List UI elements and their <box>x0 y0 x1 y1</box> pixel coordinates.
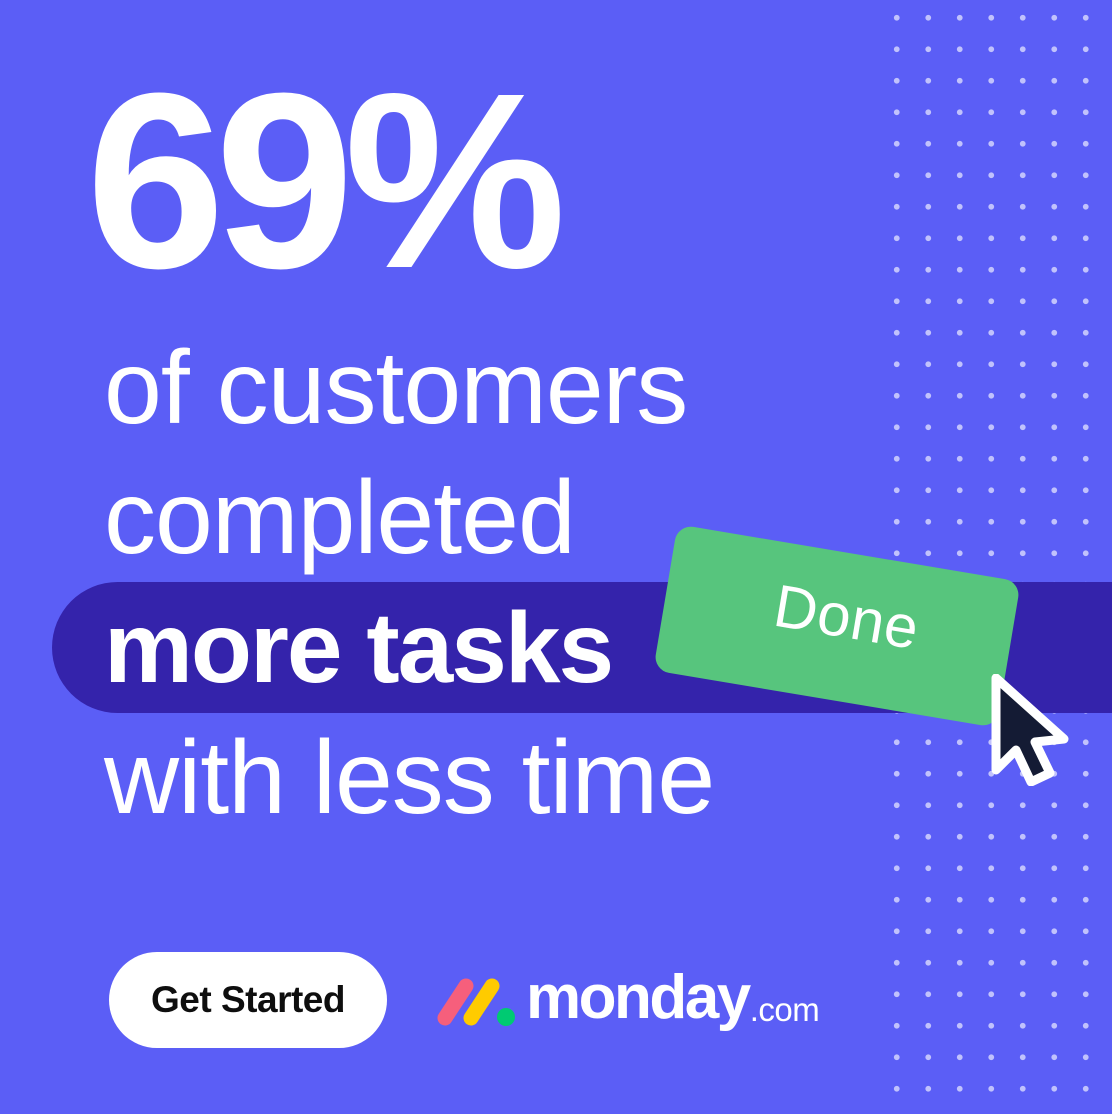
headline-line-2: completed <box>104 466 575 570</box>
headline-line-3-highlighted: more tasks <box>104 598 612 698</box>
status-tag-label: Done <box>770 576 923 659</box>
headline-stat: 69% <box>86 56 556 306</box>
get-started-button[interactable]: Get Started <box>109 952 387 1048</box>
monday-logo[interactable]: monday .com <box>434 968 819 1034</box>
headline-line-1: of customers <box>104 336 687 440</box>
mouse-pointer-icon <box>986 674 1082 786</box>
footer-bar: Get Started monday .com <box>0 952 1112 1052</box>
monday-wordmark: monday <box>526 967 749 1029</box>
monday-tld: .com <box>750 993 820 1026</box>
headline-line-4: with less time <box>104 726 714 830</box>
dot-grid-pattern-icon <box>874 0 1112 1114</box>
monday-logo-icon <box>434 975 520 1027</box>
promo-banner: 69% of customers completed more tasks wi… <box>0 0 1112 1114</box>
